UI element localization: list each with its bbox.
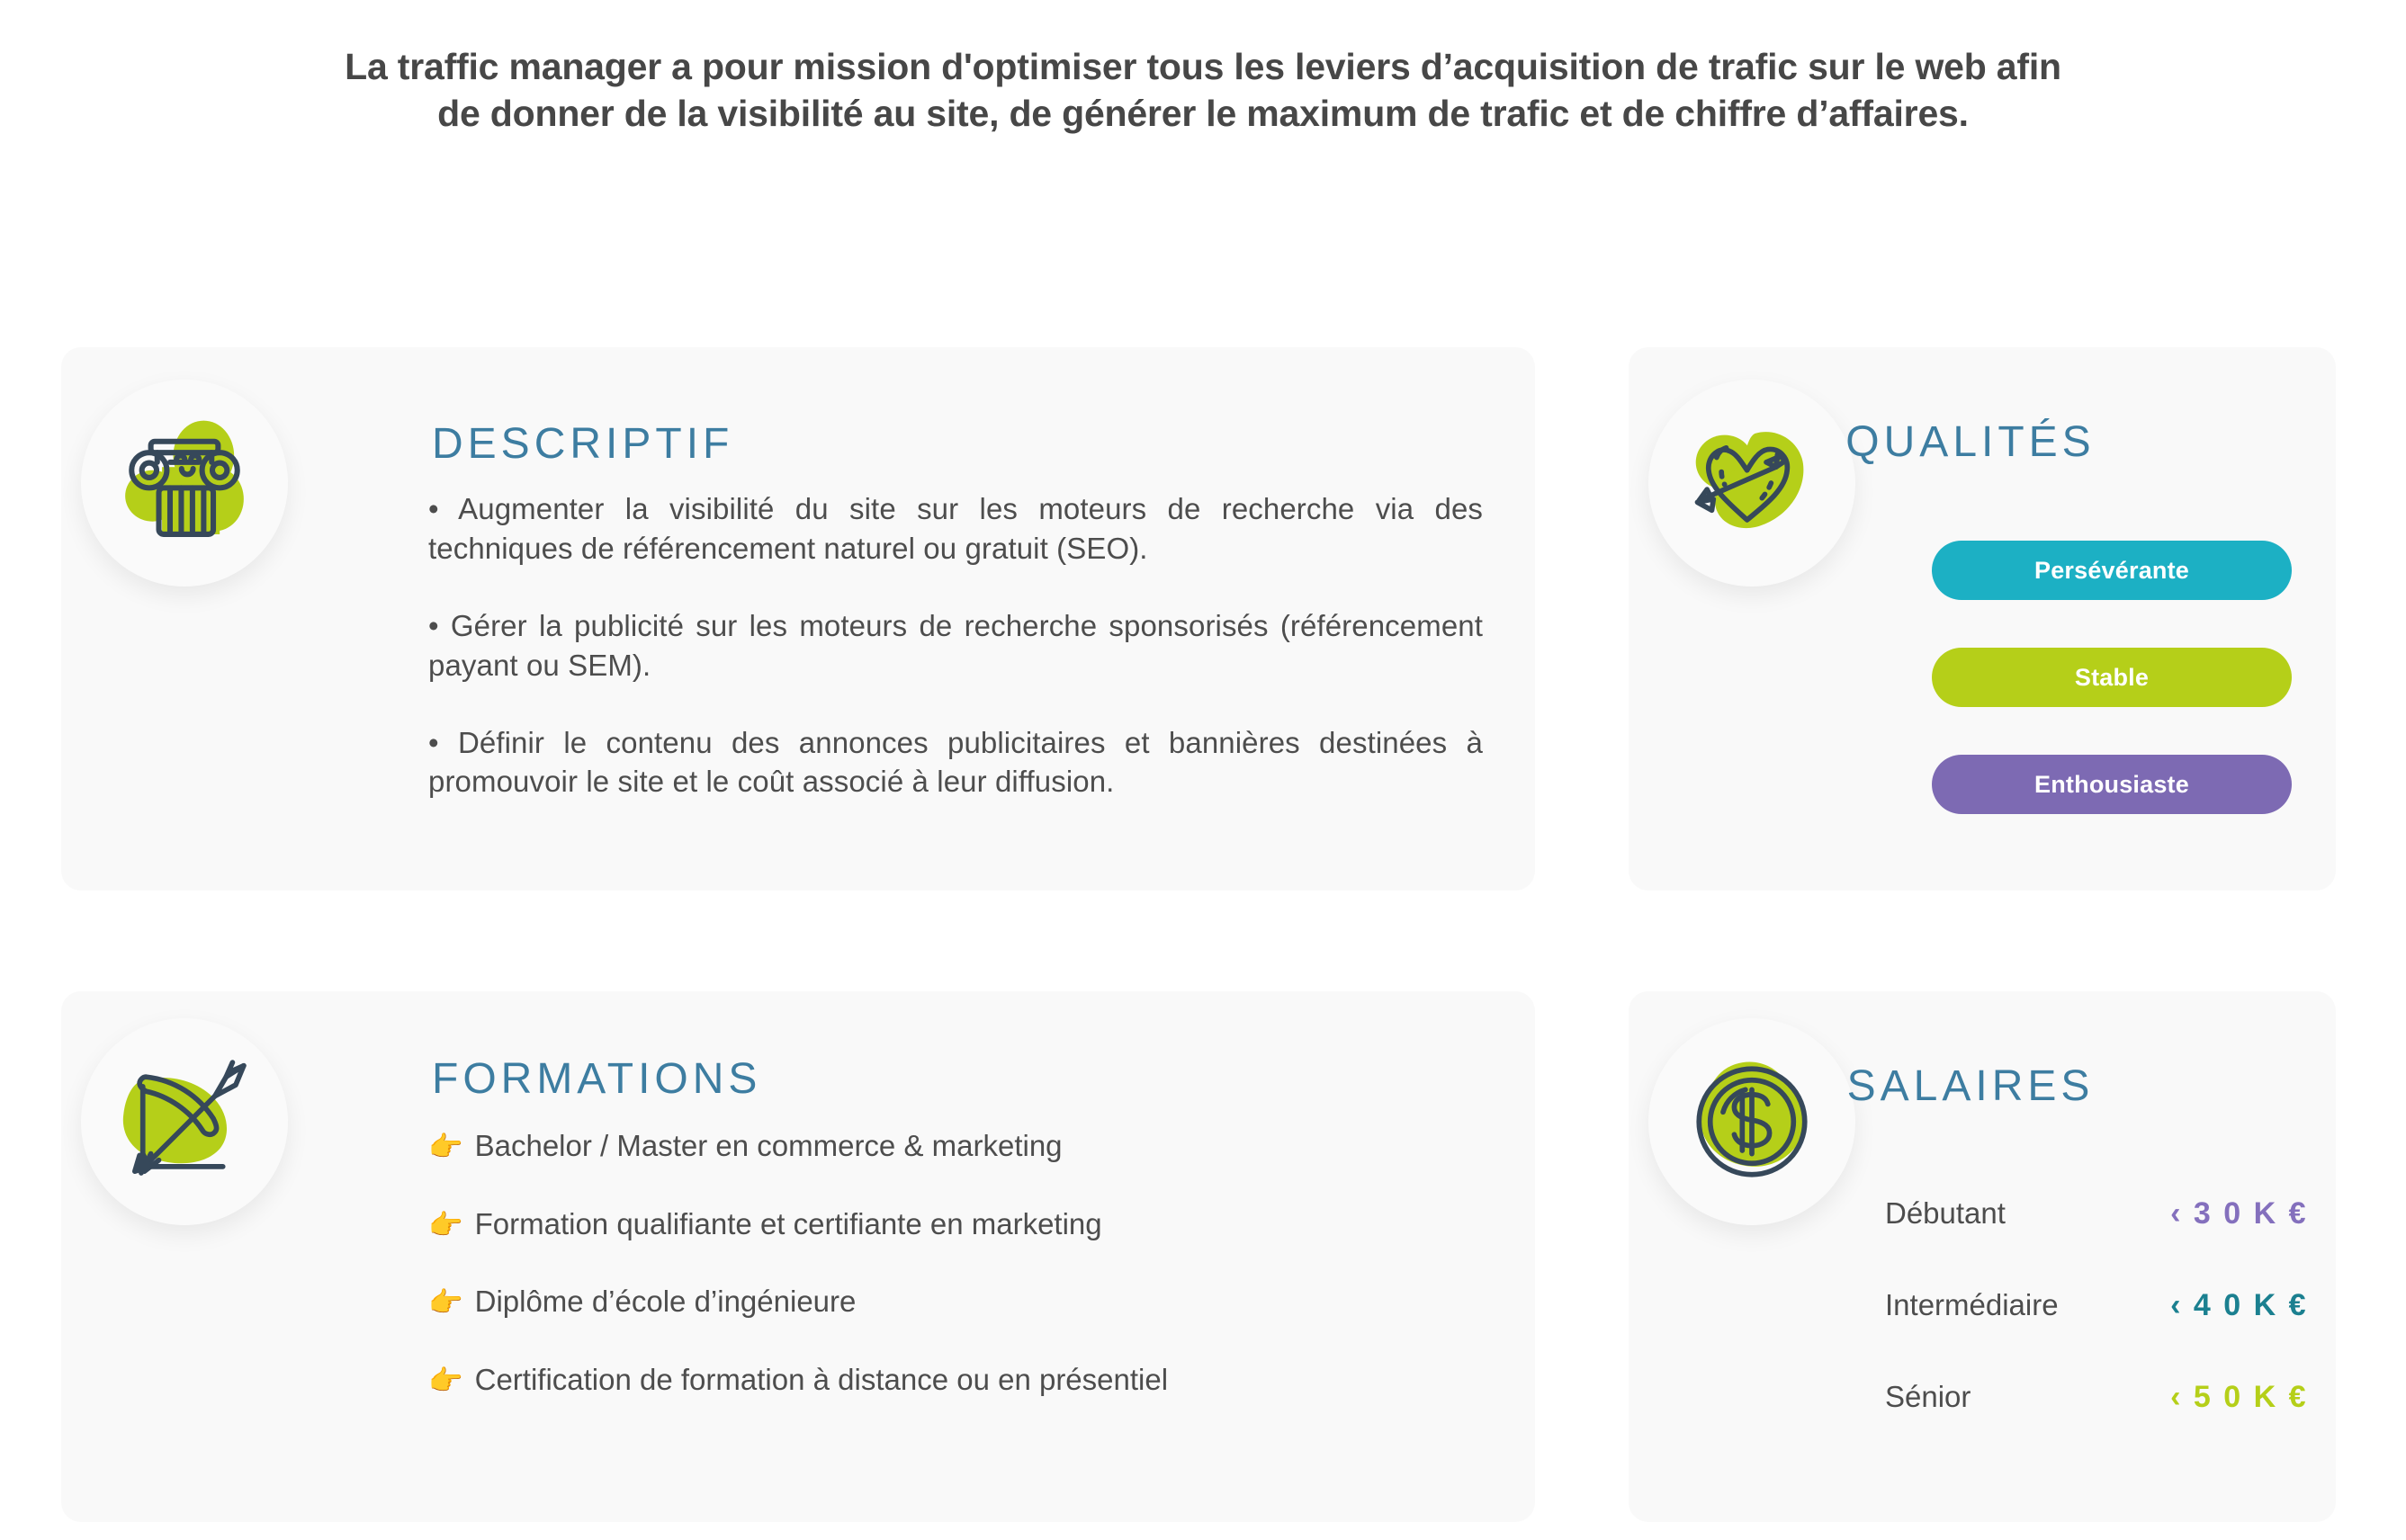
card-formations: FORMATIONS 👉 Bachelor / Master en commer… (61, 991, 1535, 1522)
salary-row-debutant: Débutant ‹ 3 0 K € (1885, 1196, 2308, 1231)
pointing-right-hand-icon: 👉 (428, 1366, 463, 1394)
bow-and-arrow-icon (104, 1042, 265, 1202)
salary-amount: ‹ 4 0 K € (2170, 1288, 2308, 1323)
intro-line-1: La traffic manager a pour mission d'opti… (63, 43, 2343, 90)
card-descriptif: DESCRIPTIF • Augmenter la visibilité du … (61, 347, 1535, 891)
descriptif-bullet: • Augmenter la visibilité du site sur le… (428, 489, 1483, 569)
descriptif-bullet: • Définir le contenu des annonces public… (428, 723, 1483, 802)
descriptif-bullet-list: • Augmenter la visibilité du site sur le… (428, 460, 1483, 801)
list-item: 👉 Bachelor / Master en commerce & market… (428, 1128, 1490, 1164)
formations-item-list: 👉 Bachelor / Master en commerce & market… (428, 1128, 1490, 1397)
quality-badge-enthousiaste[interactable]: Enthousiaste (1932, 755, 2292, 814)
formation-label: Bachelor / Master en commerce & marketin… (475, 1128, 1063, 1164)
formation-label: Diplôme d’école d’ingénieure (475, 1284, 857, 1320)
card-qualites: QUALITÉS Persévérante Stable Enthousiast… (1629, 347, 2336, 891)
salary-level-label: Débutant (1885, 1196, 2006, 1231)
formation-label: Certification de formation à distance ou… (475, 1362, 1168, 1398)
card-title-formations: FORMATIONS (432, 1054, 761, 1104)
quality-badge-perseverante[interactable]: Persévérante (1932, 541, 2292, 600)
list-item: 👉 Certification de formation à distance … (428, 1362, 1490, 1398)
card-title-salaires: SALAIRES (1629, 1061, 2336, 1111)
salaires-row-list: Débutant ‹ 3 0 K € Intermédiaire ‹ 4 0 K… (1885, 1196, 2308, 1415)
card-salaires: SALAIRES Débutant ‹ 3 0 K € Intermédiair… (1629, 991, 2336, 1522)
list-item: 👉 Formation qualifiante et certifiante e… (428, 1206, 1490, 1242)
qualites-badge-list: Persévérante Stable Enthousiaste (1932, 541, 2292, 814)
card-title-qualites: QUALITÉS (1629, 417, 2336, 467)
pointing-right-hand-icon: 👉 (428, 1211, 463, 1239)
pointing-right-hand-icon: 👉 (428, 1133, 463, 1160)
salary-row-intermediaire: Intermédiaire ‹ 4 0 K € (1885, 1288, 2308, 1323)
formations-icon-medallion (81, 1018, 288, 1225)
salary-level-label: Intermédiaire (1885, 1288, 2059, 1322)
descriptif-bullet: • Gérer la publicité sur les moteurs de … (428, 606, 1483, 685)
salary-level-label: Sénior (1885, 1380, 1971, 1414)
intro-paragraph: La traffic manager a pour mission d'opti… (0, 43, 2406, 138)
qualites-icon-medallion (1648, 380, 1855, 586)
pointing-right-hand-icon: 👉 (428, 1288, 463, 1316)
greek-column-icon (104, 403, 265, 563)
salaires-icon-medallion (1648, 1018, 1855, 1225)
quality-badge-stable[interactable]: Stable (1932, 648, 2292, 707)
list-item: 👉 Diplôme d’école d’ingénieure (428, 1284, 1490, 1320)
intro-line-2: de donner de la visibilité au site, de g… (63, 90, 2343, 137)
salary-amount: ‹ 5 0 K € (2170, 1380, 2308, 1415)
formation-label: Formation qualifiante et certifiante en … (475, 1206, 1102, 1242)
salary-row-senior: Sénior ‹ 5 0 K € (1885, 1380, 2308, 1415)
salary-amount: ‹ 3 0 K € (2170, 1196, 2308, 1231)
card-grid: DESCRIPTIF • Augmenter la visibilité du … (61, 347, 2336, 1522)
descriptif-icon-medallion (81, 380, 288, 586)
